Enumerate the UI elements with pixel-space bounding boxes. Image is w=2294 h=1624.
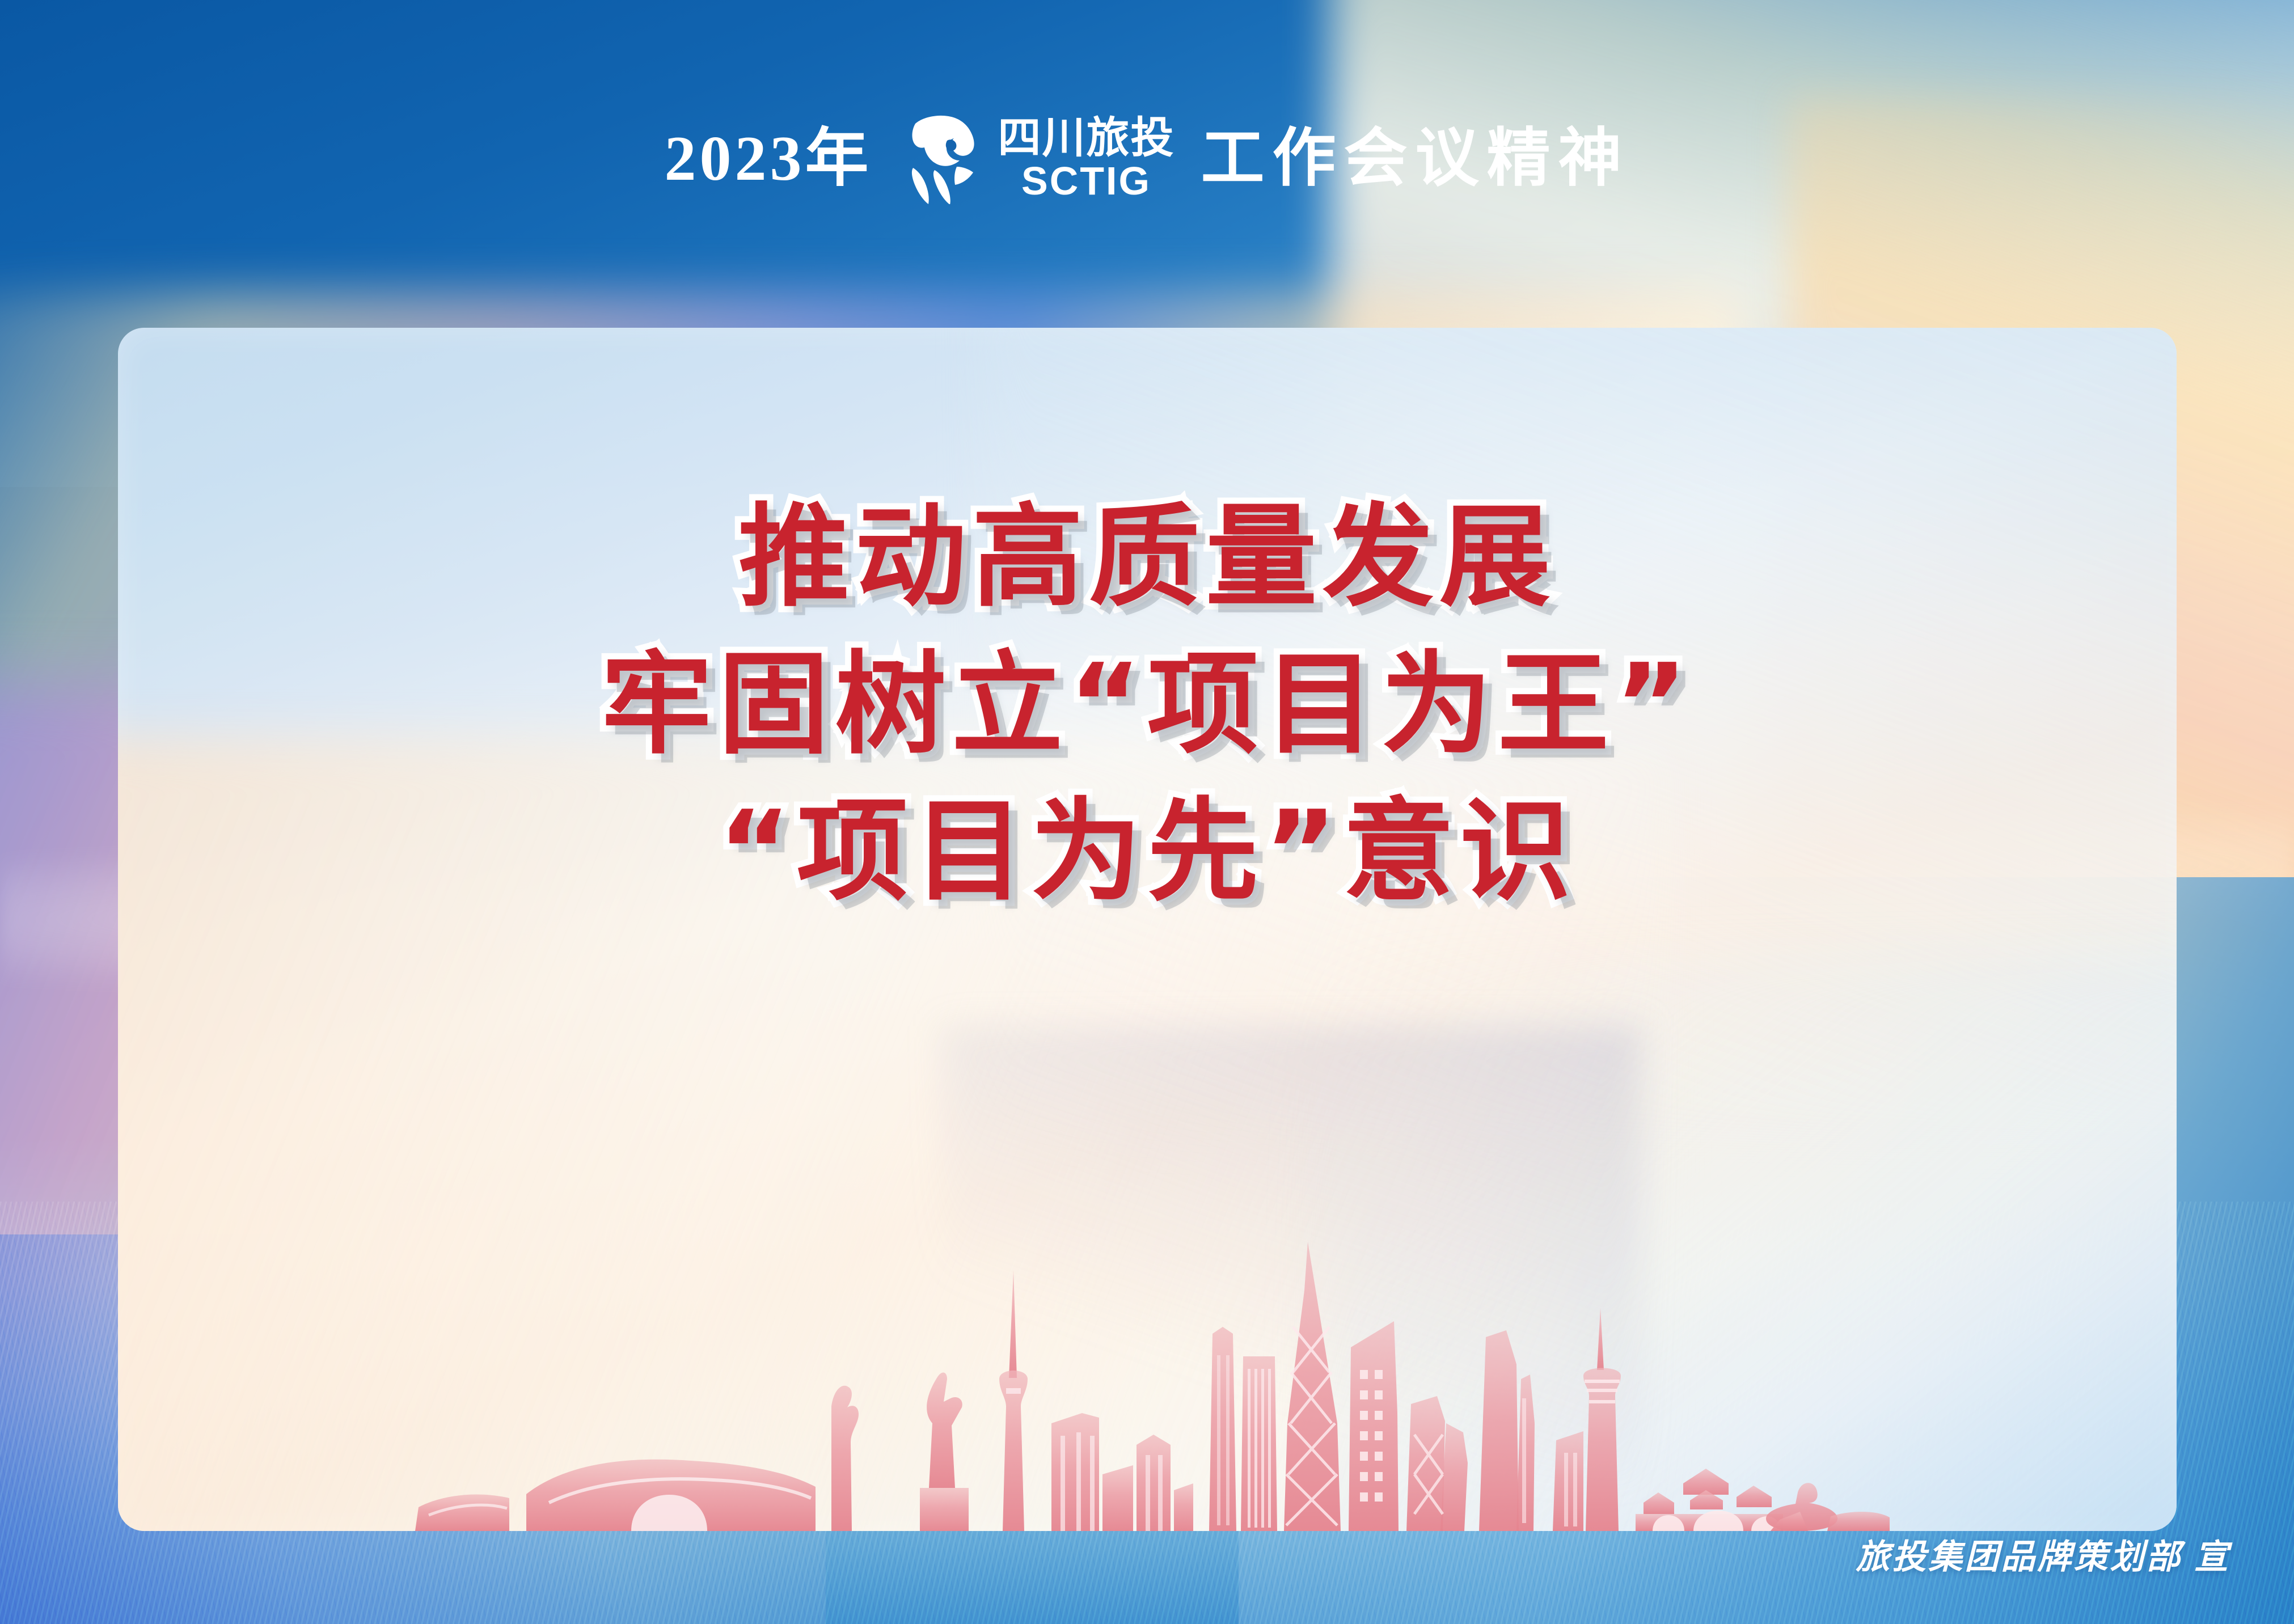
logo-chinese-name: 四川旅投 bbox=[998, 117, 1175, 160]
logo-wordmark: 四川旅投 SCTIG bbox=[998, 117, 1175, 201]
sctig-logo: 四川旅投 SCTIG bbox=[898, 113, 1175, 204]
logo-english-name: SCTIG bbox=[1021, 161, 1151, 201]
headline-line-1: 推动高质量发展 bbox=[738, 498, 1556, 618]
poster-header: 2023年 四川旅投 SCTIG 工作会议精神 bbox=[0, 85, 2294, 232]
panda-globe-logo-icon bbox=[898, 113, 983, 204]
header-suffix-label: 工作会议精神 bbox=[1201, 127, 1630, 191]
card-mountain-haze bbox=[941, 1026, 1641, 1483]
headline-block: 推动高质量发展 牢固树立“项目为王” “项目为先”意识 bbox=[118, 498, 2177, 912]
content-card: 推动高质量发展 牢固树立“项目为王” “项目为先”意识 bbox=[118, 328, 2177, 1531]
footer-credit: 旅投集团品牌策划部 宣 bbox=[1856, 1529, 2230, 1579]
headline-line-2: 牢固树立“项目为王” bbox=[601, 645, 1693, 766]
footer-credit-text: 旅投集团品牌策划部 宣 bbox=[1856, 1538, 2230, 1576]
header-year-label: 2023年 bbox=[665, 127, 872, 191]
headline-line-3: “项目为先”意识 bbox=[718, 792, 1577, 912]
